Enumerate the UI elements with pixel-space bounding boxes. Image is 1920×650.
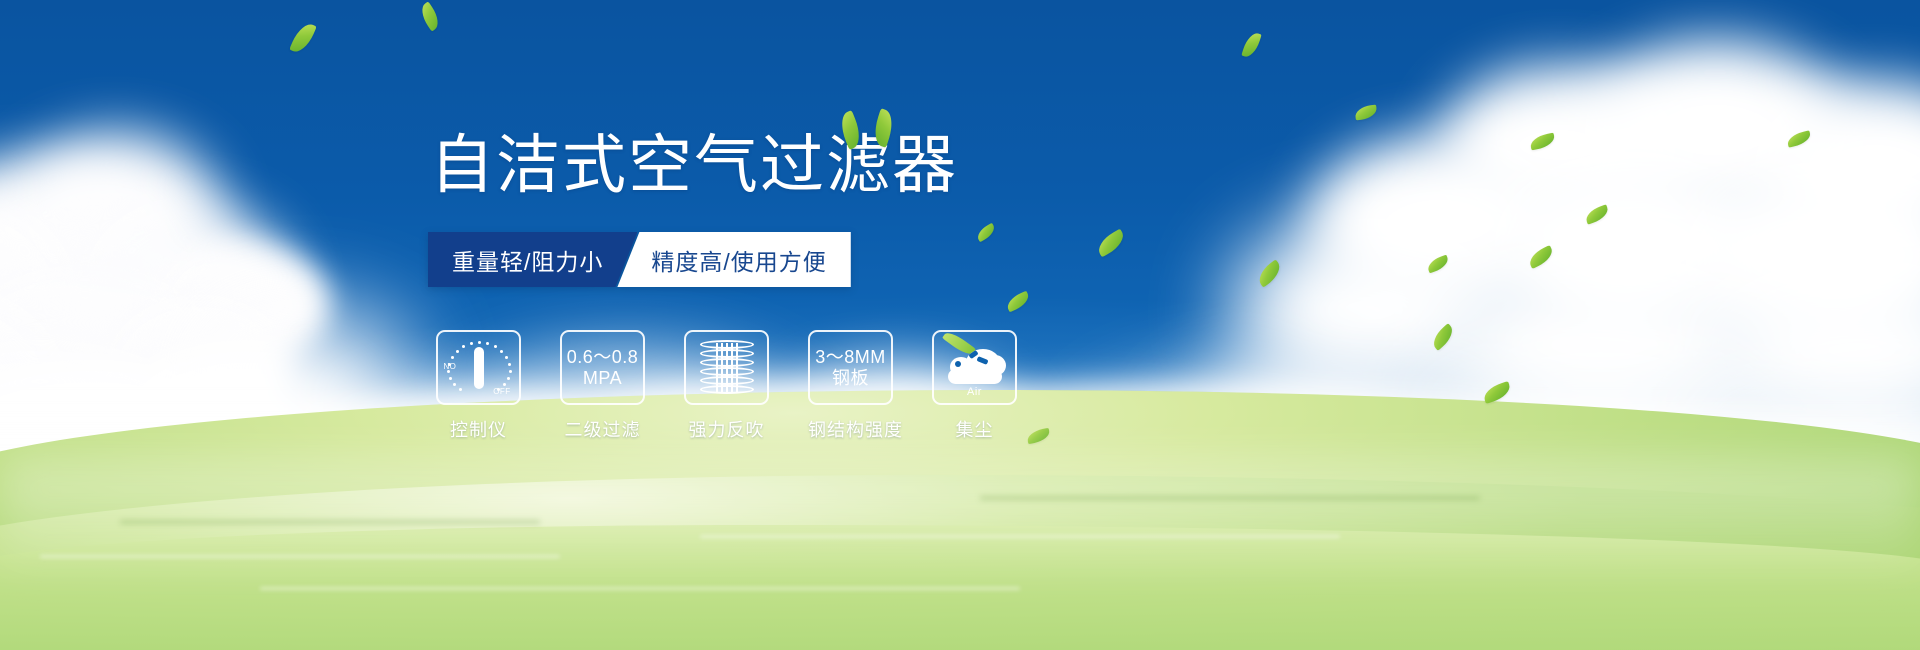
feature-icon-box: 3～8MM 钢板 bbox=[808, 330, 893, 405]
feature-icon-box: NO OFF bbox=[436, 330, 521, 405]
feature-icon-box: 0.6～0.8 MPA bbox=[560, 330, 645, 405]
feature-item-pressure[interactable]: 0.6～0.8 MPA 二级过滤 bbox=[560, 330, 645, 442]
feature-label: 集尘 bbox=[932, 416, 1017, 442]
feature-label: 强力反吹 bbox=[684, 416, 769, 442]
pressure-text-icon: 0.6～0.8 MPA bbox=[567, 347, 639, 387]
product-banner: 自洁式空气过滤器 重量轻/阻力小 精度高/使用方便 bbox=[0, 0, 1920, 650]
tagline-badge-left: 重量轻/阻力小 bbox=[428, 232, 637, 287]
cloud-base bbox=[948, 369, 1002, 384]
feature-list: NO OFF 控制仪 0.6～0.8 MPA 二级过滤 bbox=[436, 330, 1017, 442]
feature-item-steel[interactable]: 3～8MM 钢板 钢结构强度 bbox=[808, 330, 893, 442]
feature-item-control[interactable]: NO OFF 控制仪 bbox=[436, 330, 521, 442]
feature-icon-box: Air bbox=[932, 330, 1017, 405]
feature-icon-box bbox=[684, 330, 769, 405]
air-label: Air bbox=[944, 386, 1006, 398]
dial-label-off: OFF bbox=[493, 387, 510, 396]
feature-label: 二级过滤 bbox=[560, 416, 645, 442]
feature-item-blowback[interactable]: 强力反吹 bbox=[684, 330, 769, 442]
tagline-badge: 重量轻/阻力小 精度高/使用方便 bbox=[428, 232, 851, 287]
filter-cartridge-icon bbox=[700, 340, 754, 396]
tagline-badge-right: 精度高/使用方便 bbox=[617, 232, 850, 287]
feature-item-dust[interactable]: Air 集尘 bbox=[932, 330, 1017, 442]
air-cloud-icon: Air bbox=[944, 341, 1006, 395]
banner-content: 自洁式空气过滤器 重量轻/阻力小 精度高/使用方便 bbox=[0, 0, 1920, 650]
dial-label-no: NO bbox=[444, 362, 457, 371]
steel-plate-text-icon: 3～8MM 钢板 bbox=[815, 347, 886, 387]
feature-label: 钢结构强度 bbox=[808, 416, 893, 442]
dial-switch-bar bbox=[474, 347, 484, 389]
gauge-dial-icon: NO OFF bbox=[445, 338, 513, 398]
feature-label: 控制仪 bbox=[436, 416, 521, 442]
